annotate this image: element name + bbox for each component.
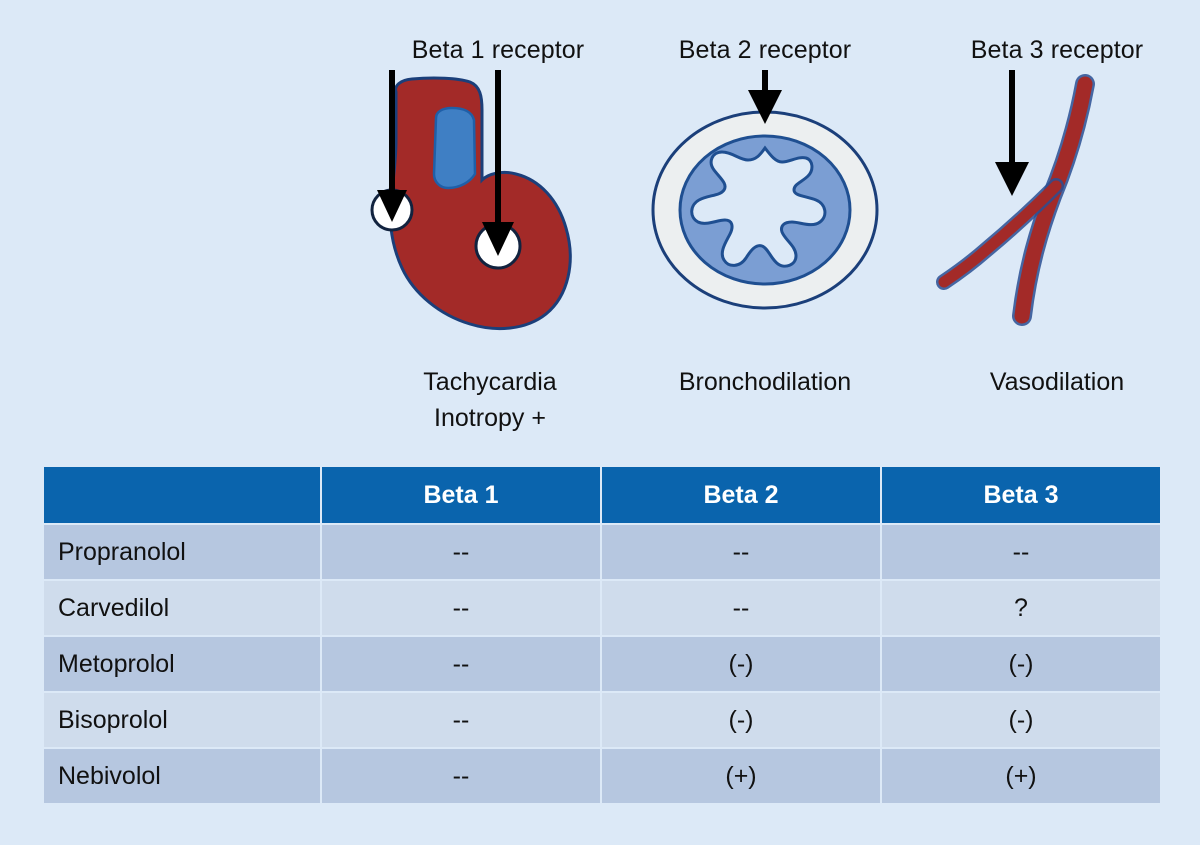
heart-icon (390, 78, 570, 329)
drug-name: Nebivolol (44, 749, 320, 803)
cell-beta3: (-) (882, 637, 1160, 691)
beta1-effect-label: Tachycardia Inotropy + (340, 365, 640, 436)
cell-beta1: -- (322, 693, 600, 747)
cell-beta2: (+) (602, 749, 880, 803)
beta3-panel: Beta 3 receptor (900, 0, 1170, 455)
bronchiole-icon (653, 112, 877, 308)
cell-beta3: ? (882, 581, 1160, 635)
cell-beta3: (-) (882, 693, 1160, 747)
table-row: Bisoprolol -- (-) (-) (44, 693, 1160, 747)
table-row: Metoprolol -- (-) (-) (44, 637, 1160, 691)
cell-beta2: -- (602, 581, 880, 635)
drug-name: Carvedilol (44, 581, 320, 635)
table-header-corner (44, 467, 320, 523)
beta1-effect-line1: Tachycardia (423, 368, 556, 396)
cell-beta2: -- (602, 525, 880, 579)
bronchiole-illustration (630, 70, 900, 335)
beta-blocker-selectivity-table: Beta 1 Beta 2 Beta 3 Propranolol -- -- -… (42, 465, 1162, 805)
figure-canvas: Beta 1 receptor (0, 0, 1200, 845)
cell-beta3: (+) (882, 749, 1160, 803)
beta1-arrow-right-icon (482, 70, 514, 256)
receptor-diagram-row: Beta 1 receptor (0, 0, 1200, 455)
table-row: Carvedilol -- -- ? (44, 581, 1160, 635)
cell-beta1: -- (322, 525, 600, 579)
cell-beta3: -- (882, 525, 1160, 579)
beta2-panel: Beta 2 receptor (630, 0, 900, 455)
beta2-effect-label: Bronchodilation (630, 365, 900, 401)
table-row: Nebivolol -- (+) (+) (44, 749, 1160, 803)
beta1-panel: Beta 1 receptor (330, 0, 630, 455)
table-header-beta1: Beta 1 (322, 467, 600, 523)
table-header-beta2: Beta 2 (602, 467, 880, 523)
cell-beta1: -- (322, 581, 600, 635)
beta3-receptor-label: Beta 3 receptor (922, 36, 1192, 65)
beta3-arrow-icon (995, 70, 1029, 196)
drug-name: Propranolol (44, 525, 320, 579)
beta1-effect-line2: Inotropy + (434, 404, 546, 432)
beta3-effect-label: Vasodilation (922, 365, 1192, 401)
cell-beta1: -- (322, 749, 600, 803)
beta1-receptor-label: Beta 1 receptor (348, 36, 648, 65)
cell-beta2: (-) (602, 693, 880, 747)
heart-illustration (330, 70, 630, 335)
cell-beta1: -- (322, 637, 600, 691)
blood-vessel-illustration (900, 70, 1170, 335)
drug-name: Bisoprolol (44, 693, 320, 747)
table-header-row: Beta 1 Beta 2 Beta 3 (44, 467, 1160, 523)
cell-beta2: (-) (602, 637, 880, 691)
table-row: Propranolol -- -- -- (44, 525, 1160, 579)
drug-name: Metoprolol (44, 637, 320, 691)
beta2-receptor-label: Beta 2 receptor (630, 36, 900, 65)
table-header-beta3: Beta 3 (882, 467, 1160, 523)
